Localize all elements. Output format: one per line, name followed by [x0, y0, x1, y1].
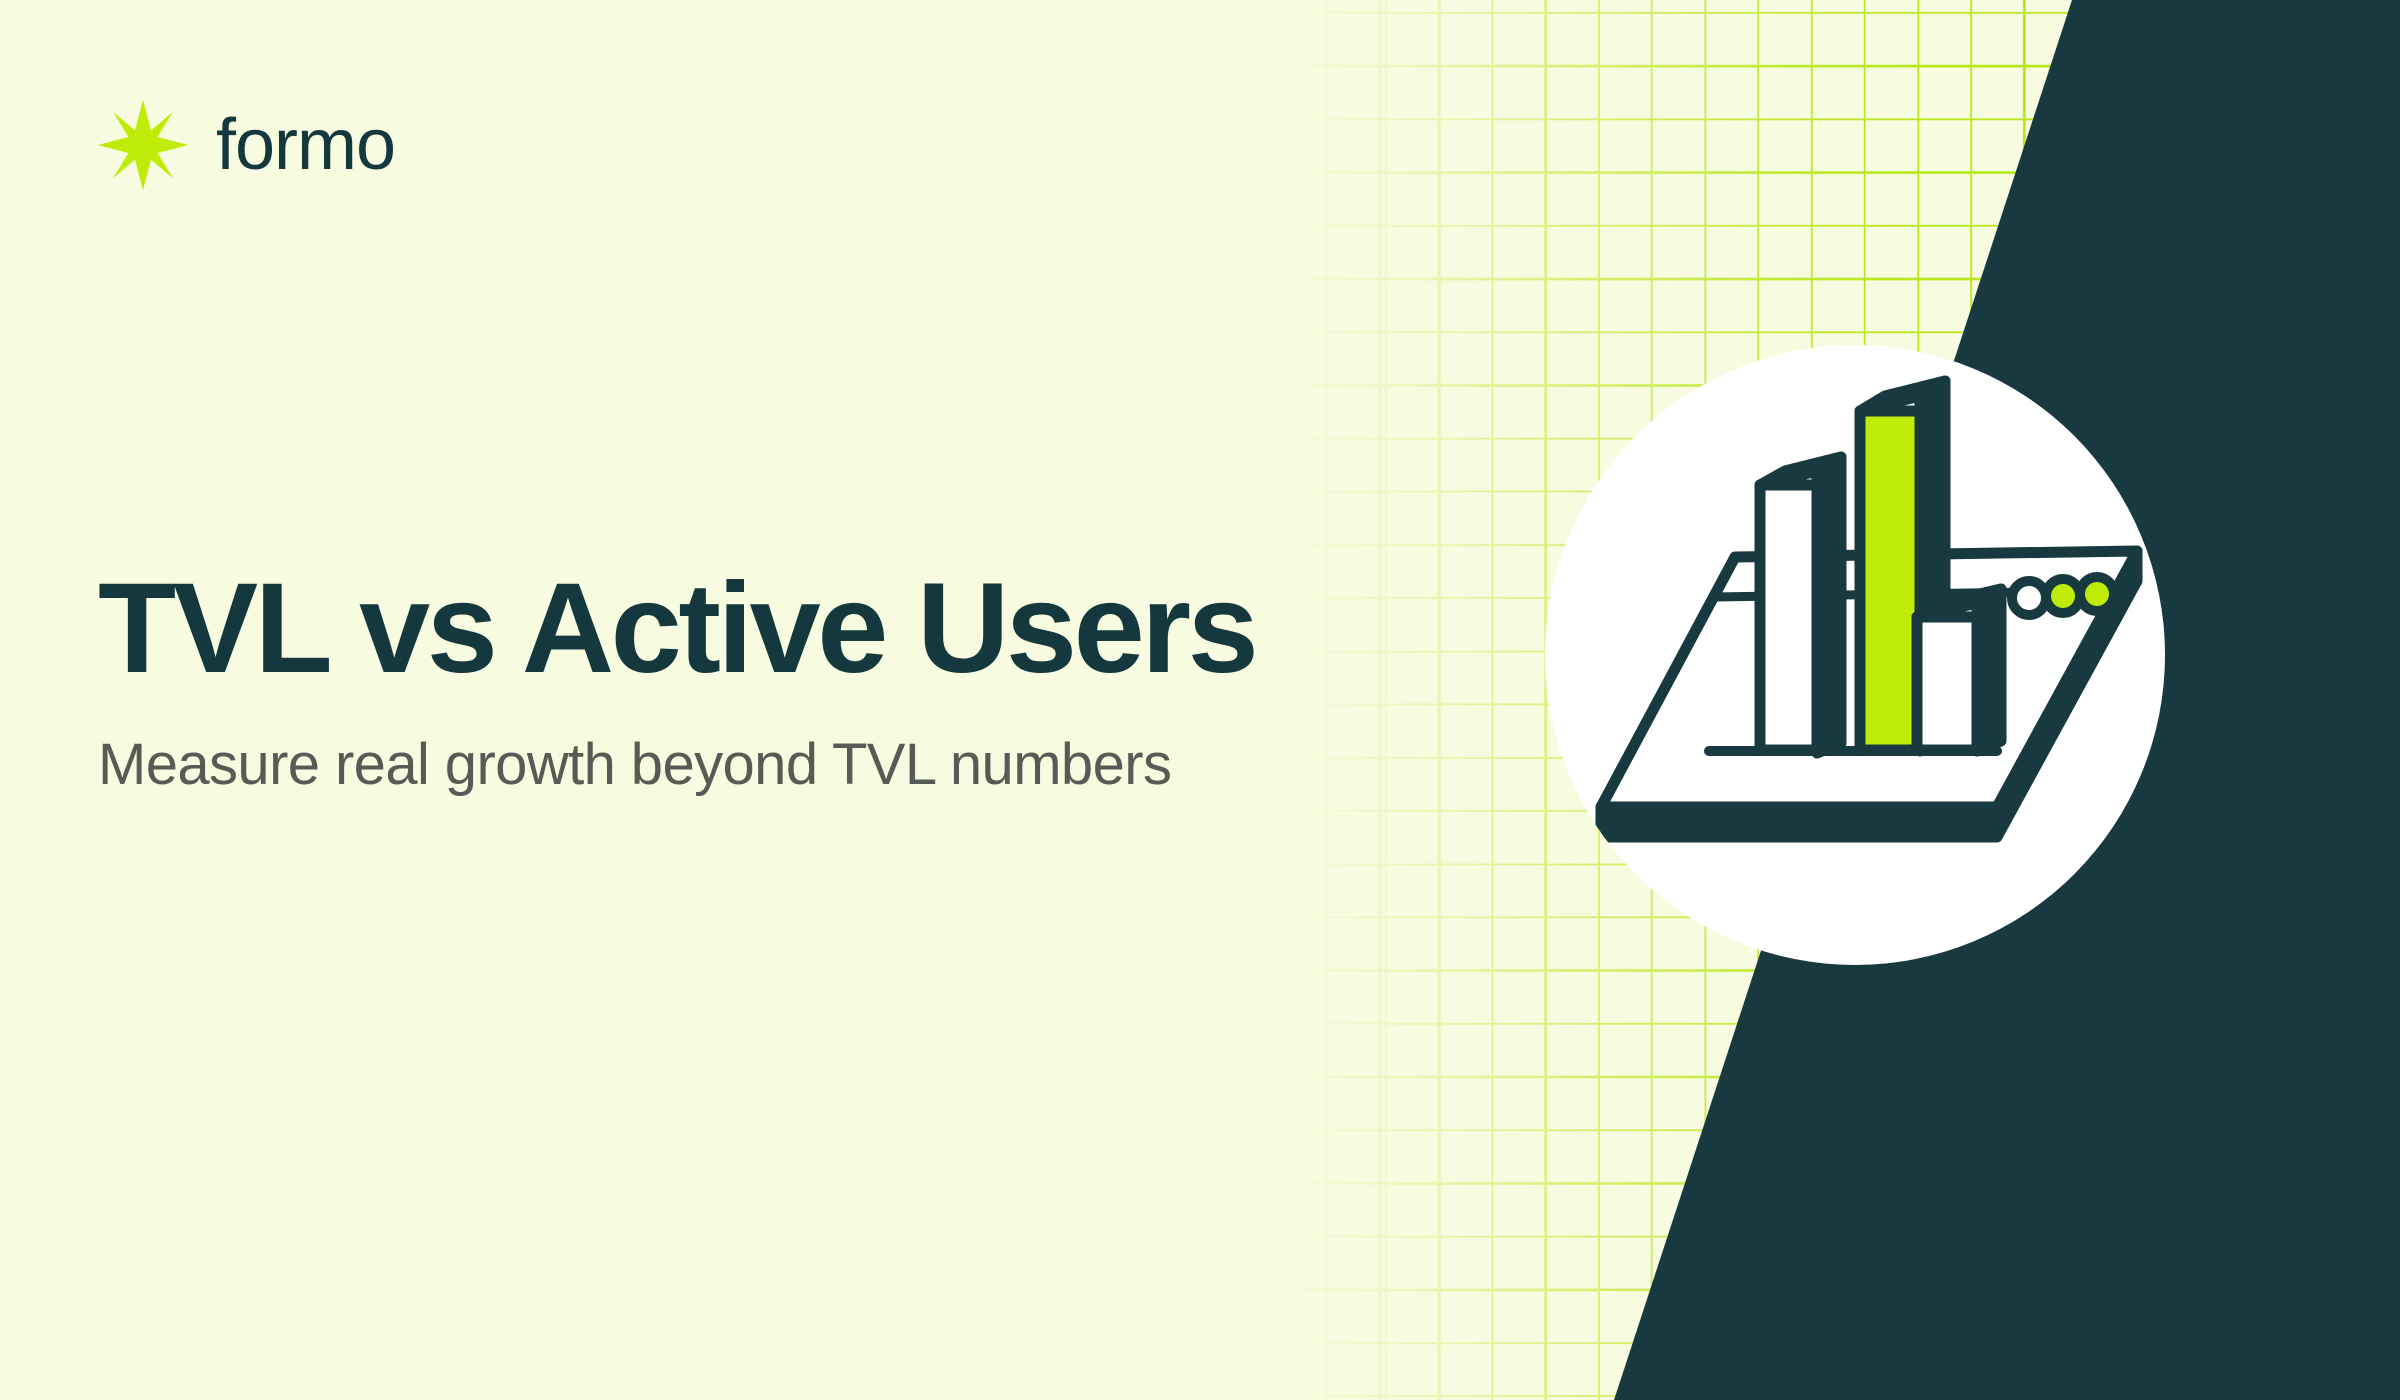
bar-2-face — [1860, 411, 1920, 750]
illustration-circle — [1545, 345, 2165, 965]
brand-wordmark: formo — [216, 109, 395, 181]
eight-point-star-icon — [96, 98, 190, 192]
bar-1-face — [1760, 485, 1817, 750]
bar-3-face — [1917, 617, 1977, 750]
page-title: TVL vs Active Users — [98, 562, 1418, 696]
hero-copy: TVL vs Active Users Measure real growth … — [98, 562, 1418, 800]
window-dot-1-icon — [2012, 581, 2046, 615]
brand-logo[interactable]: formo — [96, 98, 395, 192]
window-dot-2-icon — [2046, 579, 2080, 613]
isometric-dashboard-bar-chart-illustration — [1545, 345, 2165, 965]
window-dot-3-icon — [2080, 577, 2114, 611]
page-subtitle: Measure real growth beyond TVL numbers — [98, 730, 1418, 800]
hero-banner: formo TVL vs Active Users Measure real g… — [0, 0, 2400, 1400]
